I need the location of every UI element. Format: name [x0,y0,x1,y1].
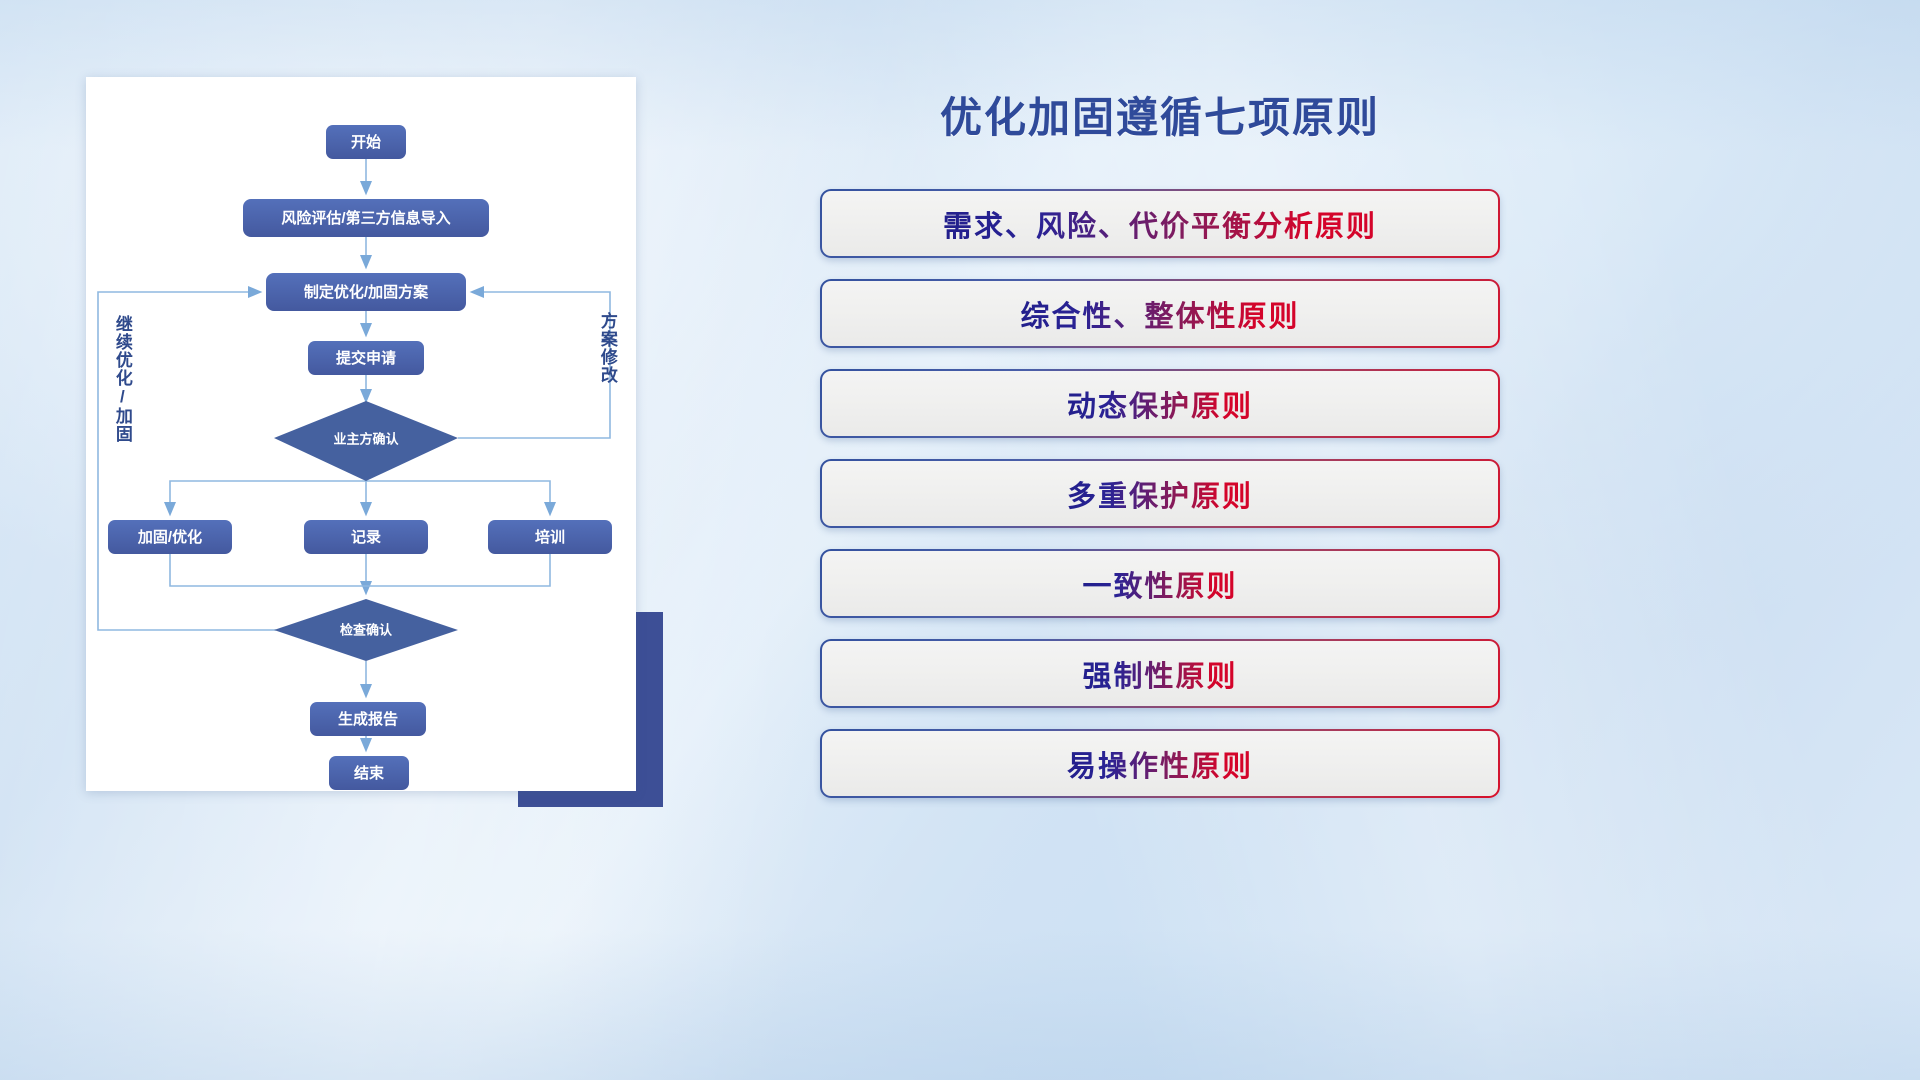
flow-node-check-confirm: 检查确认 [274,599,458,661]
flowchart-diagram: 开始 风险评估/第三方信息导入 制定优化/加固方案 提交申请 业主方确认 加固/… [86,77,636,791]
flow-node-submit-label: 提交申请 [336,349,396,367]
principle-card-inner: 一致性原则 [822,551,1498,616]
principle-card-inner: 易操作性原则 [822,731,1498,796]
principle-label-7: 易操作性原则 [1067,743,1253,785]
flow-node-submit: 提交申请 [308,341,424,375]
flow-node-plan-label: 制定优化/加固方案 [304,283,429,301]
flow-node-record-label: 记录 [351,529,381,546]
flow-node-reinforce-label: 加固/优化 [137,528,202,546]
flow-node-record: 记录 [304,520,428,554]
principle-card-5[interactable]: 一致性原则 [820,549,1500,618]
flow-node-owner-confirm-label: 业主方确认 [333,431,399,446]
flow-node-reinforce: 加固/优化 [108,520,232,554]
flow-node-start-label: 开始 [351,133,381,151]
principles-panel: 优化加固遵循七项原则 需求、风险、代价平衡分析原则 综合性、整体性原则 动态保护… [820,64,1500,864]
flow-node-training-label: 培训 [535,528,565,546]
principle-card-inner: 多重保护原则 [822,461,1498,526]
flowchart-right-loop-label: 方案修改 [598,312,616,384]
principle-label-4: 多重保护原则 [1067,473,1253,515]
principle-label-1: 需求、风险、代价平衡分析原则 [943,203,1377,245]
flow-node-training: 培训 [488,520,612,554]
principle-card-inner: 综合性、整体性原则 [822,281,1498,346]
principle-label-5: 一致性原则 [1082,563,1237,605]
principle-card-1[interactable]: 需求、风险、代价平衡分析原则 [820,189,1500,258]
principle-card-6[interactable]: 强制性原则 [820,639,1500,708]
flowchart-card: 开始 风险评估/第三方信息导入 制定优化/加固方案 提交申请 业主方确认 加固/… [86,77,636,791]
principles-list: 需求、风险、代价平衡分析原则 综合性、整体性原则 动态保护原则 多重保护原则 一… [820,189,1500,798]
principle-card-7[interactable]: 易操作性原则 [820,729,1500,798]
flow-node-risk-assessment-label: 风险评估/第三方信息导入 [281,209,450,227]
principle-card-inner: 动态保护原则 [822,371,1498,436]
principle-label-6: 强制性原则 [1082,653,1237,695]
principle-card-2[interactable]: 综合性、整体性原则 [820,279,1500,348]
principle-label-2: 综合性、整体性原则 [1020,293,1299,335]
principle-card-inner: 需求、风险、代价平衡分析原则 [822,191,1498,256]
principle-card-4[interactable]: 多重保护原则 [820,459,1500,528]
principle-card-3[interactable]: 动态保护原则 [820,369,1500,438]
flow-node-report-label: 生成报告 [338,710,398,728]
principle-card-inner: 强制性原则 [822,641,1498,706]
flowchart-merge-lines [170,554,550,586]
page-title: 优化加固遵循七项原则 [820,84,1500,145]
flow-node-owner-confirm: 业主方确认 [274,401,458,481]
flowchart-left-loop-label: 继续优化/加固 [113,315,131,443]
flow-node-end: 结束 [329,756,409,790]
flow-node-plan: 制定优化/加固方案 [266,273,466,311]
principle-label-3: 动态保护原则 [1067,383,1253,425]
flow-node-end-label: 结束 [354,764,385,782]
flow-node-risk-assessment: 风险评估/第三方信息导入 [243,199,489,237]
flow-node-start: 开始 [326,125,406,159]
flow-node-check-confirm-label: 检查确认 [340,622,393,637]
flow-node-report: 生成报告 [310,702,426,736]
